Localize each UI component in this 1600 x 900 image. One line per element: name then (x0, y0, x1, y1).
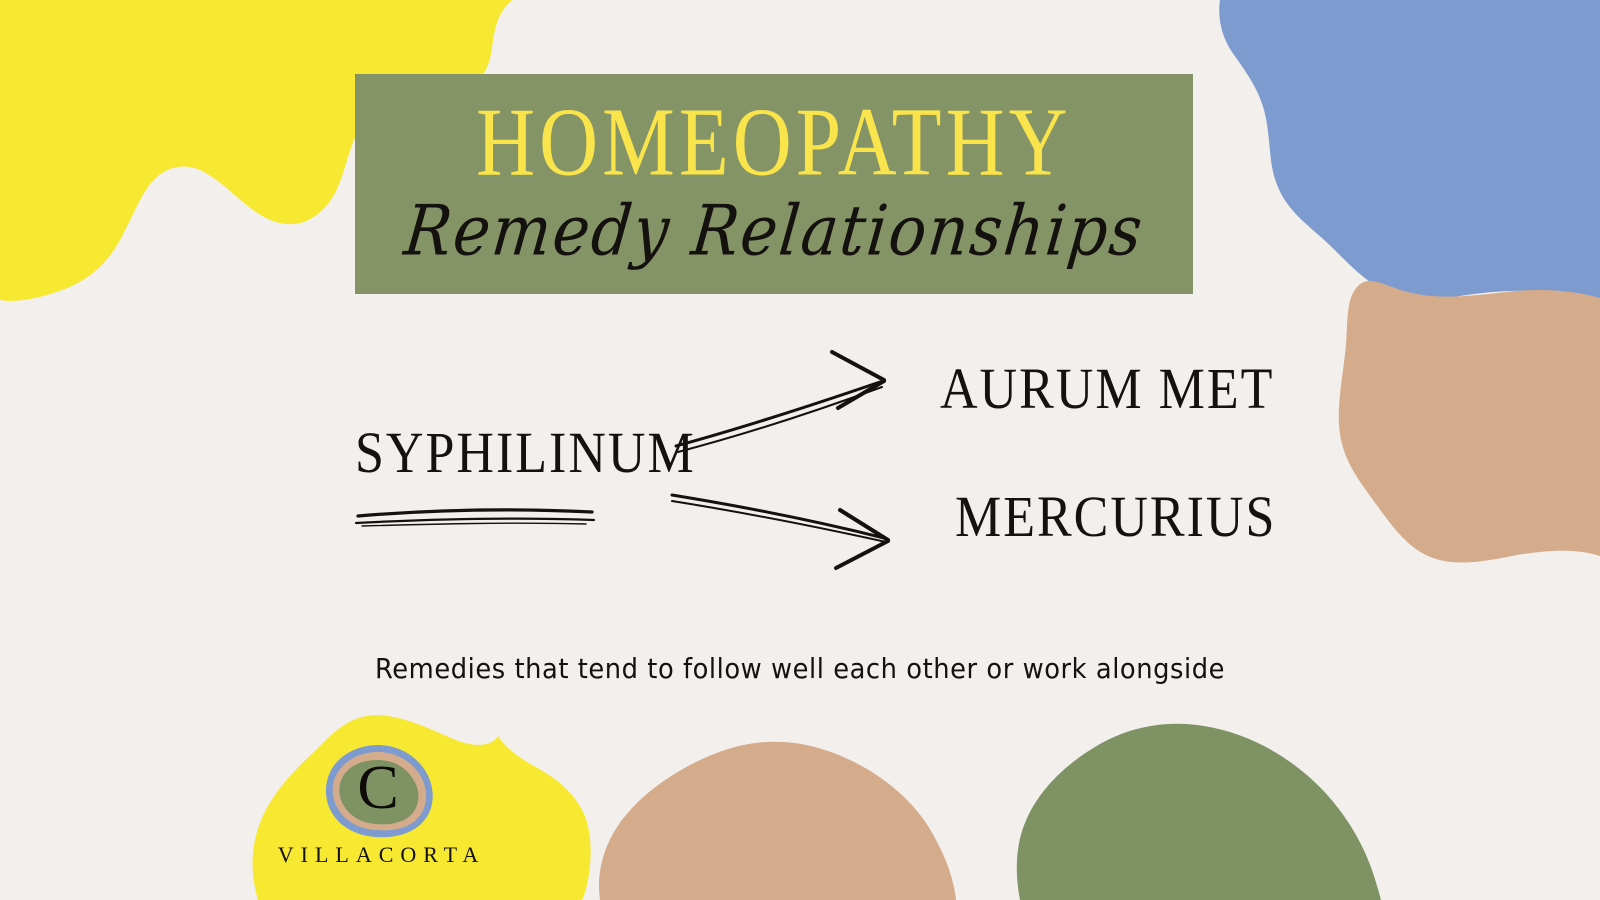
poster-canvas: HOMEOPATHY Remedy Relationships (0, 0, 1600, 900)
green-blob-bottom-right-shape (1017, 724, 1381, 900)
arrow-to-mercurius (672, 495, 888, 568)
page-title: HOMEOPATHY (476, 94, 1071, 192)
tan-blob-bottom-center-shape (599, 742, 956, 900)
brand-logo: C VILLACORTA (268, 742, 488, 882)
blue-blob-top-right-shape (1219, 0, 1600, 308)
diagram-node-aurum-met: AURUM MET (940, 361, 1274, 419)
diagram-node-mercurius: MERCURIUS (955, 489, 1276, 547)
logo-monogram: C (318, 742, 438, 838)
diagram-arrows (0, 340, 1600, 600)
page-subtitle: Remedy Relationships (401, 196, 1147, 265)
arrow-to-aurum-met (676, 352, 884, 452)
diagram-node-source: SYPHILINUM (355, 425, 696, 483)
source-underline (356, 510, 594, 526)
remedy-relationship-diagram: SYPHILINUM AURUM MET MERCURIUS (0, 340, 1600, 600)
logo-wordmark: VILLACORTA (271, 842, 485, 868)
caption-text: Remedies that tend to follow well each o… (64, 652, 1536, 685)
logo-mark: C (318, 742, 438, 838)
header-banner: HOMEOPATHY Remedy Relationships (355, 74, 1193, 294)
